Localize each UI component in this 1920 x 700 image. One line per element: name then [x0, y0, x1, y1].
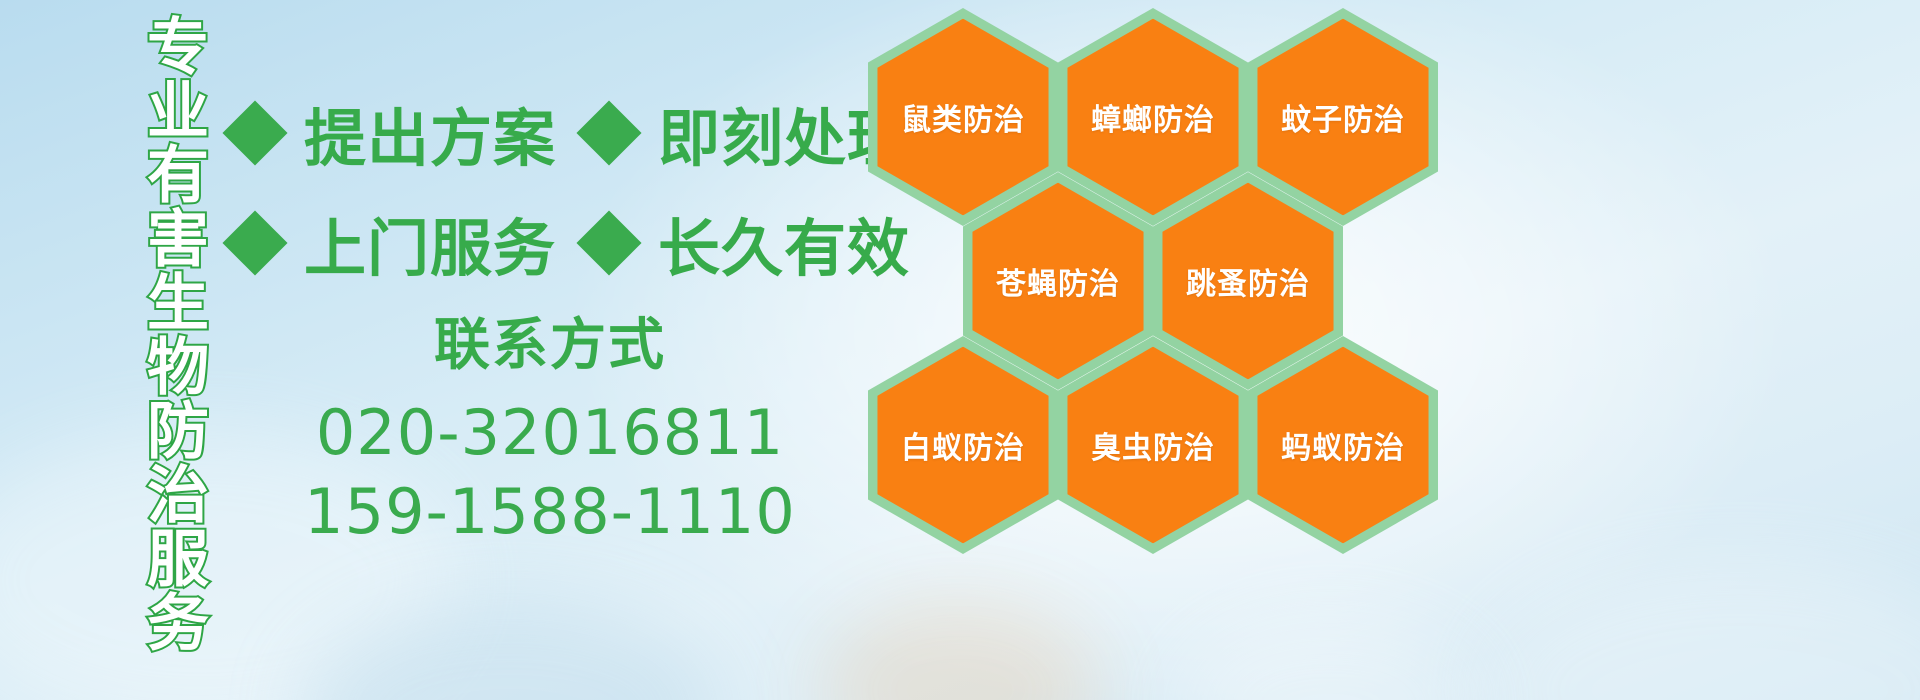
- diamond-icon: [222, 210, 287, 275]
- vertical-headline: 专业有害生物防治服务: [112, 14, 204, 654]
- phone-number-landline[interactable]: 020-32016811: [240, 393, 860, 472]
- service-hex-ant[interactable]: 蚂蚁防治: [1248, 336, 1438, 554]
- feature-row-1: 提出方案 即刻处理: [232, 88, 910, 178]
- diamond-icon: [576, 100, 641, 165]
- background-blob: [1180, 620, 1480, 700]
- service-honeycomb: 鼠类防治 蟑螂防治 蚊子防治 苍蝇防治 跳蚤防治 白蚁防治: [860, 0, 1460, 560]
- contact-block: 联系方式 020-32016811 159-1588-1110: [240, 315, 860, 551]
- feature-label-propose-plan: 提出方案: [304, 88, 556, 178]
- service-label: 臭虫防治: [1058, 336, 1248, 554]
- service-hex-bedbug[interactable]: 臭虫防治: [1058, 336, 1248, 554]
- service-hex-termite[interactable]: 白蚁防治: [868, 336, 1058, 554]
- diamond-icon: [576, 210, 641, 275]
- feature-label-onsite-service: 上门服务: [304, 198, 556, 288]
- feature-row-2: 上门服务 长久有效: [232, 198, 910, 288]
- diamond-icon: [222, 100, 287, 165]
- phone-number-mobile[interactable]: 159-1588-1110: [240, 472, 860, 551]
- contact-label: 联系方式: [240, 315, 860, 377]
- service-label: 蚂蚁防治: [1248, 336, 1438, 554]
- background-blob: [300, 600, 720, 700]
- promo-banner: 专业有害生物防治服务 提出方案 即刻处理 上门服务 长久有效 联系方式 020-…: [0, 0, 1920, 700]
- background-blob: [820, 600, 1100, 700]
- service-label: 白蚁防治: [868, 336, 1058, 554]
- background-blob: [1480, 560, 1920, 700]
